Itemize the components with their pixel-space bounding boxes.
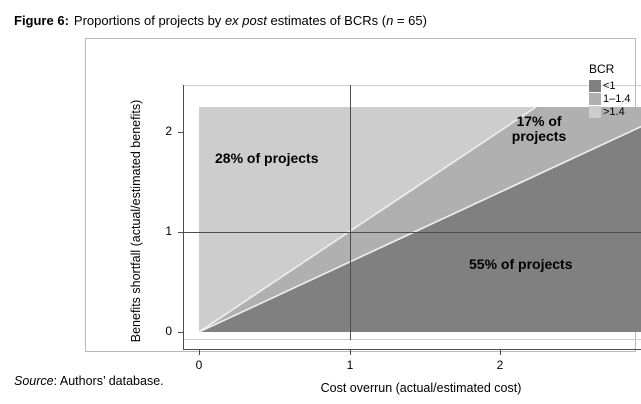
- legend-item-gt-1p4[interactable]: >1.4: [589, 105, 637, 118]
- y-tick-mark-0: [178, 332, 183, 333]
- figure-caption: Figure 6:Proportions of projects by ex p…: [14, 12, 427, 30]
- x-tick-mark-0: [199, 350, 200, 355]
- y-tick-mark-1: [178, 232, 183, 233]
- figure-caption-text-2: estimates of BCRs (: [267, 13, 386, 28]
- figure-label: Figure 6:: [14, 13, 69, 28]
- figure-caption-text-1: Proportions of projects by: [74, 13, 225, 28]
- source-text: : Authors’ database.: [54, 374, 164, 388]
- y-tick-label-0: 0: [150, 324, 172, 338]
- y-tick-mark-2: [178, 132, 183, 133]
- legend: BCR <1 1–1.4 >1.4: [589, 62, 637, 118]
- source-note: Source: Authors’ database.: [14, 374, 164, 388]
- legend-swatch-1-to-1p4: [589, 93, 601, 105]
- annotation-share-55: 55% of projects: [469, 257, 572, 272]
- y-tick-label-2: 2: [150, 124, 172, 138]
- legend-label-lt-1: <1: [603, 80, 616, 92]
- x-tick-label-0: 0: [187, 358, 211, 372]
- y-tick-label-1: 1: [150, 224, 172, 238]
- x-tick-label-1: 1: [338, 358, 362, 372]
- x-axis-line: [183, 349, 641, 350]
- legend-swatch-gt-1p4: [589, 106, 601, 118]
- y-axis-title: Benefits shortfall (actual/estimated ben…: [129, 81, 143, 361]
- legend-label-1-to-1p4: 1–1.4: [603, 93, 631, 105]
- legend-item-lt-1[interactable]: <1: [589, 79, 637, 92]
- legend-label-gt-1p4: >1.4: [603, 106, 625, 118]
- figure-frame: Benefits shortfall (actual/estimated ben…: [85, 38, 636, 352]
- source-label: Source: [14, 374, 54, 388]
- figure-caption-text-3: = 65): [393, 13, 427, 28]
- x-tick-mark-1: [350, 350, 351, 355]
- annotation-share-17: 17% of projects: [496, 114, 582, 144]
- x-tick-mark-2: [500, 350, 501, 355]
- legend-swatch-lt-1: [589, 80, 601, 92]
- legend-item-1-to-1p4[interactable]: 1–1.4: [589, 92, 637, 105]
- legend-title: BCR: [589, 62, 637, 76]
- x-tick-label-2: 2: [488, 358, 512, 372]
- reference-line-y1: [183, 232, 641, 233]
- figure-caption-italic: ex post: [225, 13, 267, 28]
- reference-line-x1: [350, 85, 351, 340]
- x-axis-title: Cost overrun (actual/estimated cost): [183, 381, 641, 395]
- y-axis-line: [183, 85, 184, 350]
- annotation-share-28: 28% of projects: [215, 151, 318, 166]
